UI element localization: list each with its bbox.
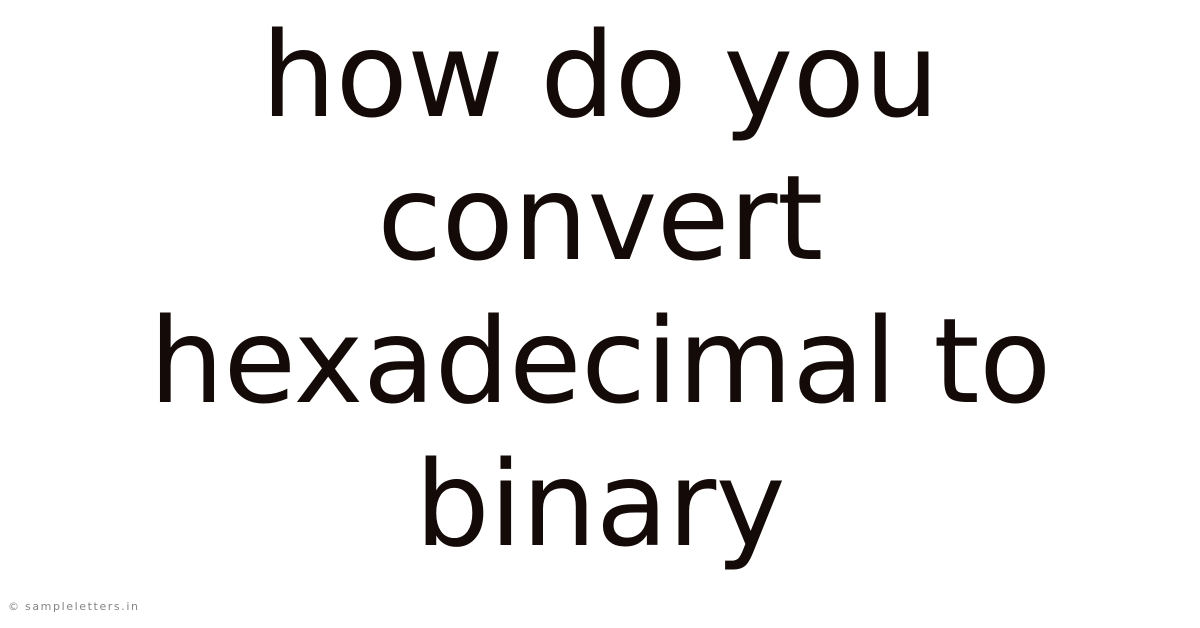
- headline-line-3: hexadecimal to: [0, 290, 1200, 433]
- headline-block: how do you convert hexadecimal to binary: [0, 0, 1200, 580]
- watermark-site-name: sampleletters.in: [25, 601, 140, 612]
- headline-line-4: binary: [0, 433, 1200, 576]
- copyright-icon: ©: [8, 601, 19, 612]
- poster-canvas: how do you convert hexadecimal to binary…: [0, 0, 1200, 628]
- headline-line-1: how do you: [0, 4, 1200, 147]
- headline-line-2: convert: [0, 147, 1200, 290]
- footer-watermark: © sampleletters.in: [8, 601, 140, 612]
